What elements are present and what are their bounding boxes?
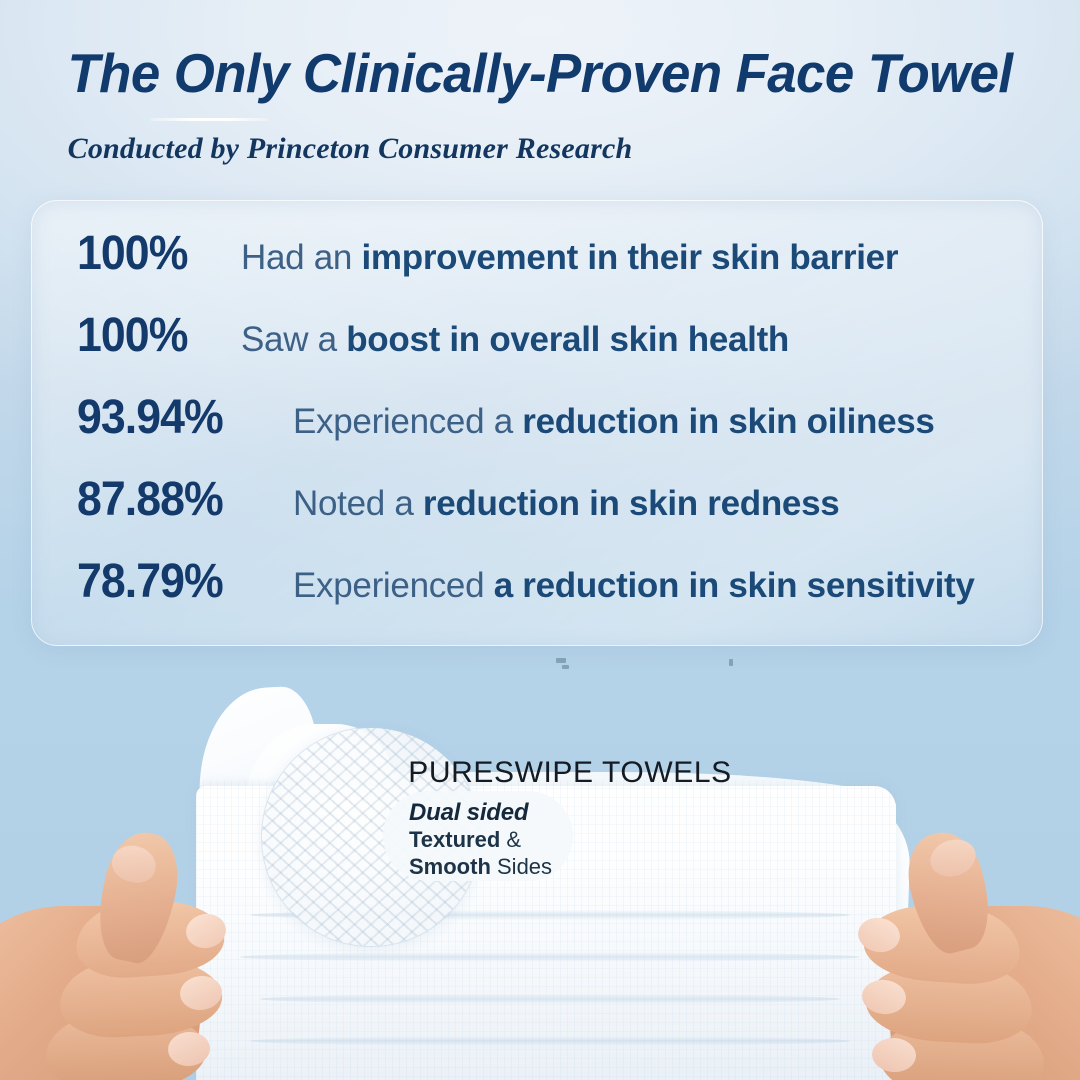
badge-line-2: Smooth Sides — [409, 854, 573, 880]
stat-row: 100% Had an improvement in their skin ba… — [31, 226, 1043, 308]
stat-highlight: boost in overall skin health — [346, 320, 789, 359]
title-divider — [150, 118, 268, 121]
stat-row: 78.79% Experienced a reduction in skin s… — [31, 554, 1043, 636]
badge-line-2-bold: Smooth — [409, 854, 491, 879]
left-hand — [0, 810, 265, 1080]
stat-value: 100% — [77, 308, 218, 363]
stat-value: 100% — [77, 226, 218, 281]
stat-description: Noted a reduction in skin redness — [293, 484, 839, 524]
stat-description: Experienced a reduction in skin oiliness — [293, 402, 935, 442]
stat-row: 87.88% Noted a reduction in skin redness — [31, 472, 1043, 554]
badge-line-2-rest: Sides — [491, 854, 552, 879]
stat-row: 100% Saw a boost in overall skin health — [31, 308, 1043, 390]
towel-fold — [240, 952, 860, 962]
dual-sided-badge: Dual sided Textured & Smooth Sides — [383, 791, 573, 881]
stat-lead: Saw a — [241, 320, 346, 359]
towel-fold — [260, 994, 840, 1004]
stat-lead: Experienced — [293, 566, 494, 605]
badge-line-1-bold: Textured — [409, 827, 500, 852]
stat-lead: Experienced a — [293, 402, 522, 441]
stat-lead: Had an — [241, 238, 362, 277]
stat-highlight: reduction in skin redness — [423, 484, 840, 523]
stat-highlight: improvement in their skin barrier — [362, 238, 899, 277]
badge-line-1-rest: & — [500, 827, 521, 852]
page-subtitle: Conducted by Princeton Consumer Research — [0, 132, 890, 166]
badge-title: Dual sided — [409, 799, 573, 827]
page-title: The Only Clinically-Proven Face Towel — [22, 44, 1059, 102]
product-name: PURESWIPE TOWELS — [30, 756, 1080, 790]
towel-fold — [250, 1036, 850, 1046]
stat-value: 78.79% — [77, 554, 270, 609]
stat-row: 93.94% Experienced a reduction in skin o… — [31, 390, 1043, 472]
infographic-canvas: The Only Clinically-Proven Face Towel Co… — [0, 0, 1080, 1080]
stat-description: Had an improvement in their skin barrier — [241, 238, 898, 278]
stat-value: 87.88% — [77, 472, 270, 527]
stats-list: 100% Had an improvement in their skin ba… — [31, 200, 1043, 646]
stat-highlight: a reduction in skin sensitivity — [494, 566, 975, 605]
stat-description: Experienced a reduction in skin sensitiv… — [293, 566, 975, 606]
badge-line-1: Textured & — [409, 827, 573, 853]
stat-description: Saw a boost in overall skin health — [241, 320, 789, 360]
stat-value: 93.94% — [77, 390, 270, 445]
stat-lead: Noted a — [293, 484, 423, 523]
stat-highlight: reduction in skin oiliness — [522, 402, 934, 441]
header: The Only Clinically-Proven Face Towel Co… — [0, 0, 1080, 166]
right-hand — [816, 810, 1080, 1080]
